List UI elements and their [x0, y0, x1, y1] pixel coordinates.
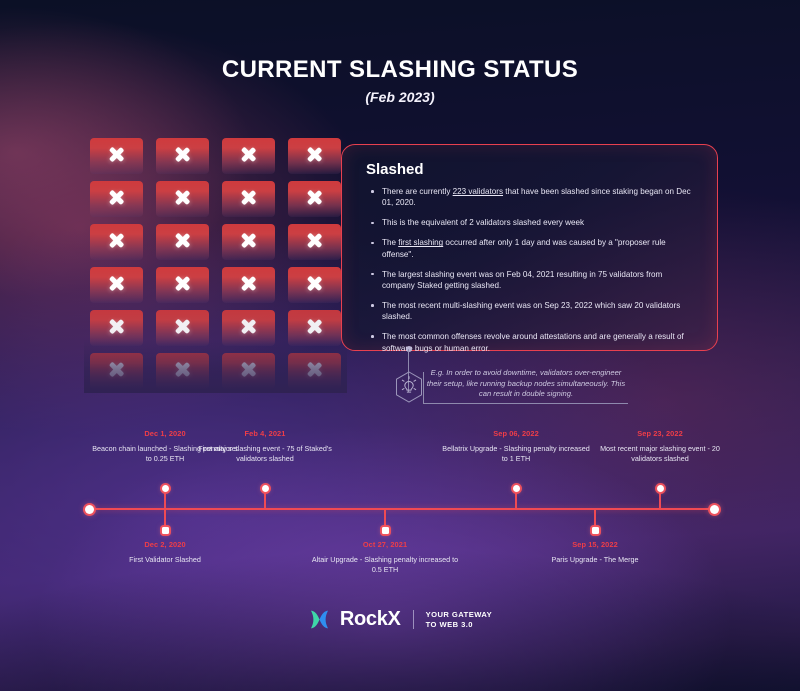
validator-tile: [288, 267, 341, 303]
timeline-start-marker: [85, 505, 94, 514]
validator-tile: [156, 267, 209, 303]
timeline-node[interactable]: [382, 527, 389, 534]
validator-grid: [90, 138, 341, 389]
timeline-event-date: Sep 06, 2022: [441, 429, 591, 438]
note-underline: [423, 403, 628, 404]
x-mark-icon: [240, 275, 257, 292]
validator-tile: [90, 224, 143, 260]
validator-tile: [222, 267, 275, 303]
panel-bullet-list: There are currently 223 validators that …: [342, 186, 717, 354]
x-mark-icon: [306, 146, 323, 163]
timeline-event-date: Sep 15, 2022: [520, 540, 670, 549]
timeline-event-date: Oct 27, 2021: [310, 540, 460, 549]
timeline-event: Sep 15, 2022Paris Upgrade - The Merge: [520, 540, 670, 565]
x-mark-icon: [108, 189, 125, 206]
x-mark-icon: [174, 232, 191, 249]
timeline-node[interactable]: [162, 527, 169, 534]
x-mark-icon: [306, 361, 323, 378]
timeline-node[interactable]: [592, 527, 599, 534]
validator-tile: [222, 224, 275, 260]
timeline-node[interactable]: [262, 485, 269, 492]
timeline-event: Dec 2, 2020First Validator Slashed: [90, 540, 240, 565]
x-mark-icon: [108, 361, 125, 378]
note-text: E.g. In order to avoid downtime, validat…: [424, 368, 628, 400]
validator-tile: [222, 353, 275, 389]
validator-tile: [288, 138, 341, 174]
logo-divider: [413, 610, 414, 629]
validator-tile: [156, 138, 209, 174]
x-mark-icon: [240, 189, 257, 206]
page-title: CURRENT SLASHING STATUS: [0, 56, 800, 84]
timeline-node[interactable]: [513, 485, 520, 492]
tagline-line-1: YOUR GATEWAY: [426, 610, 493, 619]
x-mark-icon: [306, 189, 323, 206]
validator-tile: [90, 181, 143, 217]
timeline-event-description: Most recent major slashing event - 20 va…: [585, 444, 735, 464]
x-mark-icon: [108, 146, 125, 163]
timeline-event: Sep 23, 2022Most recent major slashing e…: [585, 429, 735, 481]
lightbulb-icon: [395, 371, 423, 403]
x-mark-icon: [240, 318, 257, 335]
x-mark-icon: [306, 318, 323, 335]
x-mark-icon: [306, 232, 323, 249]
x-mark-icon: [306, 275, 323, 292]
timeline-event: Oct 27, 2021Altair Upgrade - Slashing pe…: [310, 540, 460, 575]
x-mark-icon: [174, 146, 191, 163]
x-mark-icon: [174, 361, 191, 378]
timeline-event-date: Sep 23, 2022: [585, 429, 735, 438]
slashed-panel: Slashed There are currently 223 validato…: [341, 144, 718, 351]
rockx-x-logo-icon: [308, 608, 331, 631]
validator-tile: [156, 224, 209, 260]
x-mark-icon: [174, 189, 191, 206]
validator-tile: [222, 310, 275, 346]
validator-tile: [156, 353, 209, 389]
panel-bullet: There are currently 223 validators that …: [382, 186, 697, 209]
validator-tile: [288, 310, 341, 346]
x-mark-icon: [174, 318, 191, 335]
timeline-end-marker: [710, 505, 719, 514]
x-mark-icon: [108, 318, 125, 335]
page-subtitle: (Feb 2023): [0, 89, 800, 105]
timeline-event-date: Feb 4, 2021: [190, 429, 340, 438]
panel-heading: Slashed: [342, 145, 717, 178]
x-mark-icon: [174, 275, 191, 292]
validator-tile: [90, 267, 143, 303]
bullet-highlight: first slashing: [398, 238, 443, 247]
validator-tile: [222, 138, 275, 174]
x-mark-icon: [240, 146, 257, 163]
timeline-event-description: Bellatrix Upgrade - Slashing penalty inc…: [441, 444, 591, 464]
timeline-event-date: Dec 2, 2020: [90, 540, 240, 549]
validator-tile: [222, 181, 275, 217]
validator-tile: [156, 310, 209, 346]
infographic-canvas: CURRENT SLASHING STATUS (Feb 2023) Slash…: [0, 0, 800, 691]
timeline-event-description: First Validator Slashed: [90, 555, 240, 565]
x-mark-icon: [108, 275, 125, 292]
bullet-highlight: 223 validators: [453, 187, 503, 196]
timeline-node[interactable]: [162, 485, 169, 492]
validator-tile: [288, 224, 341, 260]
brand-tagline: YOUR GATEWAY TO WEB 3.0: [426, 610, 493, 629]
panel-bullet: The largest slashing event was on Feb 04…: [382, 269, 697, 292]
footer-logo[interactable]: RockX YOUR GATEWAY TO WEB 3.0: [0, 608, 800, 631]
panel-bullet: This is the equivalent of 2 validators s…: [382, 217, 697, 228]
panel-bullet: The most common offenses revolve around …: [382, 331, 697, 354]
timeline-event-description: Altair Upgrade - Slashing penalty increa…: [310, 555, 460, 575]
x-mark-icon: [240, 232, 257, 249]
validator-tile: [90, 138, 143, 174]
validator-tile: [90, 353, 143, 389]
timeline-event: Sep 06, 2022Bellatrix Upgrade - Slashing…: [441, 429, 591, 481]
timeline-axis: [88, 508, 715, 510]
timeline-event-description: Paris Upgrade - The Merge: [520, 555, 670, 565]
panel-bullet: The first slashing occurred after only 1…: [382, 237, 697, 260]
validator-tile: [288, 181, 341, 217]
timeline-event: Feb 4, 2021First major slashing event - …: [190, 429, 340, 481]
timeline-node[interactable]: [657, 485, 664, 492]
x-mark-icon: [240, 361, 257, 378]
validator-tile: [288, 353, 341, 389]
brand-name: RockX: [340, 608, 401, 631]
validator-tile: [156, 181, 209, 217]
timeline-event-description: First major slashing event - 75 of Stake…: [190, 444, 340, 464]
panel-bullet: The most recent multi-slashing event was…: [382, 300, 697, 323]
tagline-line-2: TO WEB 3.0: [426, 620, 473, 629]
validator-tile: [90, 310, 143, 346]
x-mark-icon: [108, 232, 125, 249]
